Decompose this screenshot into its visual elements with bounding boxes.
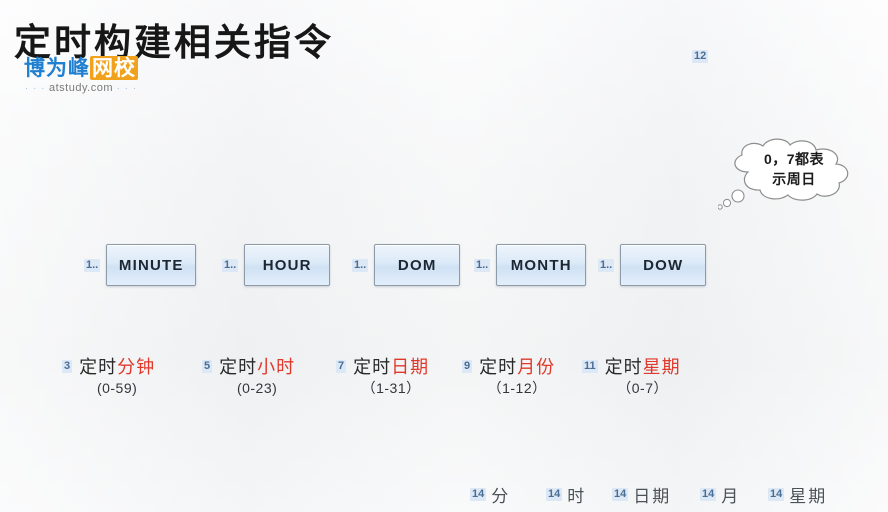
field-label-prefix: 定时 (353, 357, 391, 377)
callout-line-2: 示周日 (718, 169, 870, 189)
column-header-label: 时 (567, 482, 586, 507)
field-label-range: （0-7） (605, 380, 681, 398)
column-header-1: 14时 (546, 482, 586, 507)
button-minute[interactable]: MINUTE (106, 244, 196, 286)
field-label-range: (0-59) (79, 380, 155, 398)
logo-dots-left: · · · (25, 83, 46, 94)
field-label: 定时分钟(0-59) (79, 356, 155, 397)
field-label-group-1: 5定时小时(0-23) (202, 356, 295, 397)
field-index-badge: 1.. (352, 259, 368, 272)
column-header-label: 分 (491, 482, 510, 507)
field-label-group-2: 7定时日期（1-31） (336, 356, 429, 397)
logo-wordmark: 博为峰网校 (0, 58, 176, 79)
callout-line-1: 0，7都表 (718, 149, 870, 169)
thought-cloud-callout: 0，7都表 示周日 (718, 138, 870, 200)
field-label-badge: 3 (62, 360, 72, 373)
column-header-2: 14日期 (612, 482, 671, 507)
field-label-highlight: 日期 (391, 357, 429, 377)
field-label-title: 定时小时 (219, 356, 295, 379)
field-label-group-4: 11定时星期（0-7） (582, 356, 681, 397)
brand-logo: 博为峰网校 · · · atstudy.com · · · (0, 58, 176, 94)
field-index-badge: 1.. (222, 259, 238, 272)
field-label: 定时星期（0-7） (605, 356, 681, 397)
field-label-prefix: 定时 (79, 357, 117, 377)
column-header-badge: 14 (768, 488, 784, 501)
column-header-badge: 14 (470, 488, 486, 501)
logo-domain: atstudy.com (49, 82, 113, 94)
field-label: 定时月份（1-12） (479, 356, 555, 397)
column-header-badge: 14 (612, 488, 628, 501)
cron-field-button-row: 1..MINUTE1..HOUR1..DOM1..MONTH1..DOW (0, 244, 888, 290)
field-label-badge: 11 (582, 360, 598, 373)
logo-domain-line: · · · atstudy.com · · · (0, 82, 176, 94)
column-header-3: 14月 (700, 482, 740, 507)
field-label-highlight: 分钟 (117, 357, 155, 377)
cron-field-dom: 1..DOM (352, 244, 460, 286)
cron-field-dow: 1..DOW (598, 244, 706, 286)
logo-brand-blue: 博为峰 (24, 56, 90, 80)
field-label-prefix: 定时 (479, 357, 517, 377)
button-dom[interactable]: DOM (374, 244, 460, 286)
field-label-highlight: 月份 (517, 357, 555, 377)
cron-field-label-row: 3定时分钟(0-59)5定时小时(0-23)7定时日期（1-31）9定时月份（1… (0, 356, 888, 414)
column-header-badge: 14 (700, 488, 716, 501)
field-label-badge: 9 (462, 360, 472, 373)
field-label-range: （1-31） (353, 380, 429, 398)
column-header-label: 月 (721, 482, 740, 507)
cron-field-month: 1..MONTH (474, 244, 586, 286)
field-label-prefix: 定时 (219, 357, 257, 377)
button-dow[interactable]: DOW (620, 244, 706, 286)
column-header-badge: 14 (546, 488, 562, 501)
column-header-label: 日期 (633, 482, 671, 507)
field-label-badge: 5 (202, 360, 212, 373)
field-label-title: 定时月份 (479, 356, 555, 379)
field-label-group-0: 3定时分钟(0-59) (62, 356, 155, 397)
logo-dots-right: · · · (117, 83, 138, 94)
callout-text: 0，7都表 示周日 (718, 149, 870, 190)
field-label-title: 定时日期 (353, 356, 429, 379)
field-label: 定时日期（1-31） (353, 356, 429, 397)
column-header-4: 14星期 (768, 482, 827, 507)
field-label-range: (0-23) (219, 380, 295, 398)
field-label-prefix: 定时 (605, 357, 643, 377)
slide-canvas: 定时构建相关指令 博为峰网校 · · · atstudy.com · · · 1… (0, 0, 888, 512)
field-label-title: 定时分钟 (79, 356, 155, 379)
callout-badge: 12 (692, 50, 708, 63)
field-index-badge: 1.. (598, 259, 614, 272)
cron-field-minute: 1..MINUTE (84, 244, 196, 286)
field-label-highlight: 星期 (643, 357, 681, 377)
button-hour[interactable]: HOUR (244, 244, 330, 286)
field-label-group-3: 9定时月份（1-12） (462, 356, 555, 397)
field-label-range: （1-12） (479, 380, 555, 398)
field-index-badge: 1.. (474, 259, 490, 272)
field-label-badge: 7 (336, 360, 346, 373)
field-label-title: 定时星期 (605, 356, 681, 379)
cron-field-hour: 1..HOUR (222, 244, 330, 286)
column-header-label: 星期 (789, 482, 827, 507)
column-header-0: 14分 (470, 482, 510, 507)
logo-brand-orange: 网校 (90, 56, 138, 80)
field-label-highlight: 小时 (257, 357, 295, 377)
button-month[interactable]: MONTH (496, 244, 586, 286)
field-index-badge: 1.. (84, 259, 100, 272)
grid-column-header-row: 14分14时14日期14月14星期 (0, 482, 888, 508)
field-label: 定时小时(0-23) (219, 356, 295, 397)
